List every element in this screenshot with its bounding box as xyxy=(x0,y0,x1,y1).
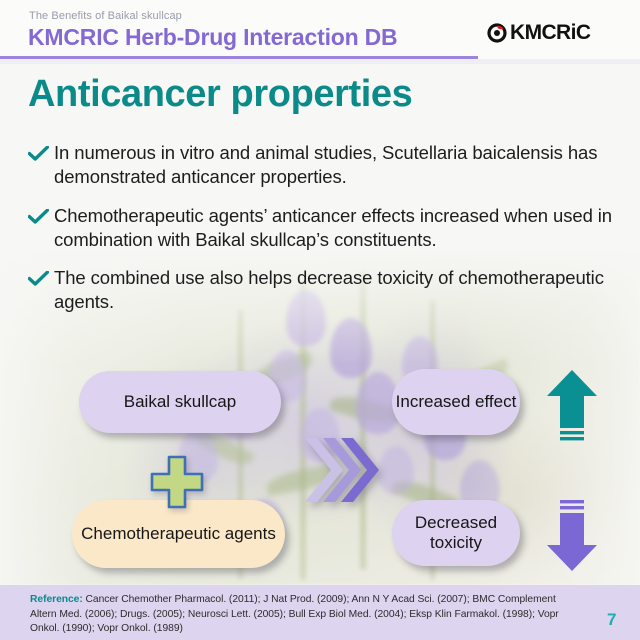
diagram-pill-increased-effect: Increased effect xyxy=(392,369,520,435)
header-eyebrow: The Benefits of Baikal skullcap xyxy=(29,10,182,22)
check-icon xyxy=(28,271,54,292)
bullet-text: In numerous in vitro and animal studies,… xyxy=(54,141,628,189)
bullet-text: Chemotherapeutic agents’ anticancer effe… xyxy=(54,204,628,252)
bullet-item: In numerous in vitro and animal studies,… xyxy=(28,141,628,189)
header-title: KMCRIC Herb-Drug Interaction DB xyxy=(28,24,397,51)
reference-body: Cancer Chemother Pharmacol. (2011); J Na… xyxy=(30,594,559,634)
slide-footer: Reference: Cancer Chemother Pharmacol. (… xyxy=(0,585,640,640)
slide-header: The Benefits of Baikal skullcap KMCRIC H… xyxy=(0,0,640,62)
header-divider-light xyxy=(0,59,640,64)
triple-chevron-right-icon xyxy=(303,434,381,506)
diagram-pill-baikal-skullcap: Baikal skullcap xyxy=(79,371,281,433)
diagram-pill-chemotherapeutic-agents: Chemotherapeutic agents xyxy=(72,500,285,568)
kmcric-logo-text: KMCRiC xyxy=(510,22,590,44)
page-title: Anticancer properties xyxy=(28,73,412,116)
diagram-pill-decreased-toxicity: Decreased toxicity xyxy=(392,500,520,566)
bullet-text: The combined use also helps decrease tox… xyxy=(54,266,628,314)
check-icon xyxy=(28,146,54,167)
up-arrow-icon xyxy=(545,368,599,444)
reference-label: Reference: xyxy=(30,594,83,605)
plus-icon xyxy=(150,455,204,509)
bullet-item: The combined use also helps decrease tox… xyxy=(28,266,628,314)
kmcric-logo: KMCRiC xyxy=(486,22,590,44)
kmcric-circle-logo-icon xyxy=(486,22,508,44)
page-number: 7 xyxy=(607,610,616,630)
bullet-item: Chemotherapeutic agents’ anticancer effe… xyxy=(28,204,628,252)
reference-text: Reference: Cancer Chemother Pharmacol. (… xyxy=(30,593,575,637)
slide: The Benefits of Baikal skullcap KMCRIC H… xyxy=(0,0,640,640)
bullet-list: In numerous in vitro and animal studies,… xyxy=(28,141,628,329)
check-icon xyxy=(28,209,54,230)
down-arrow-icon xyxy=(545,497,599,573)
